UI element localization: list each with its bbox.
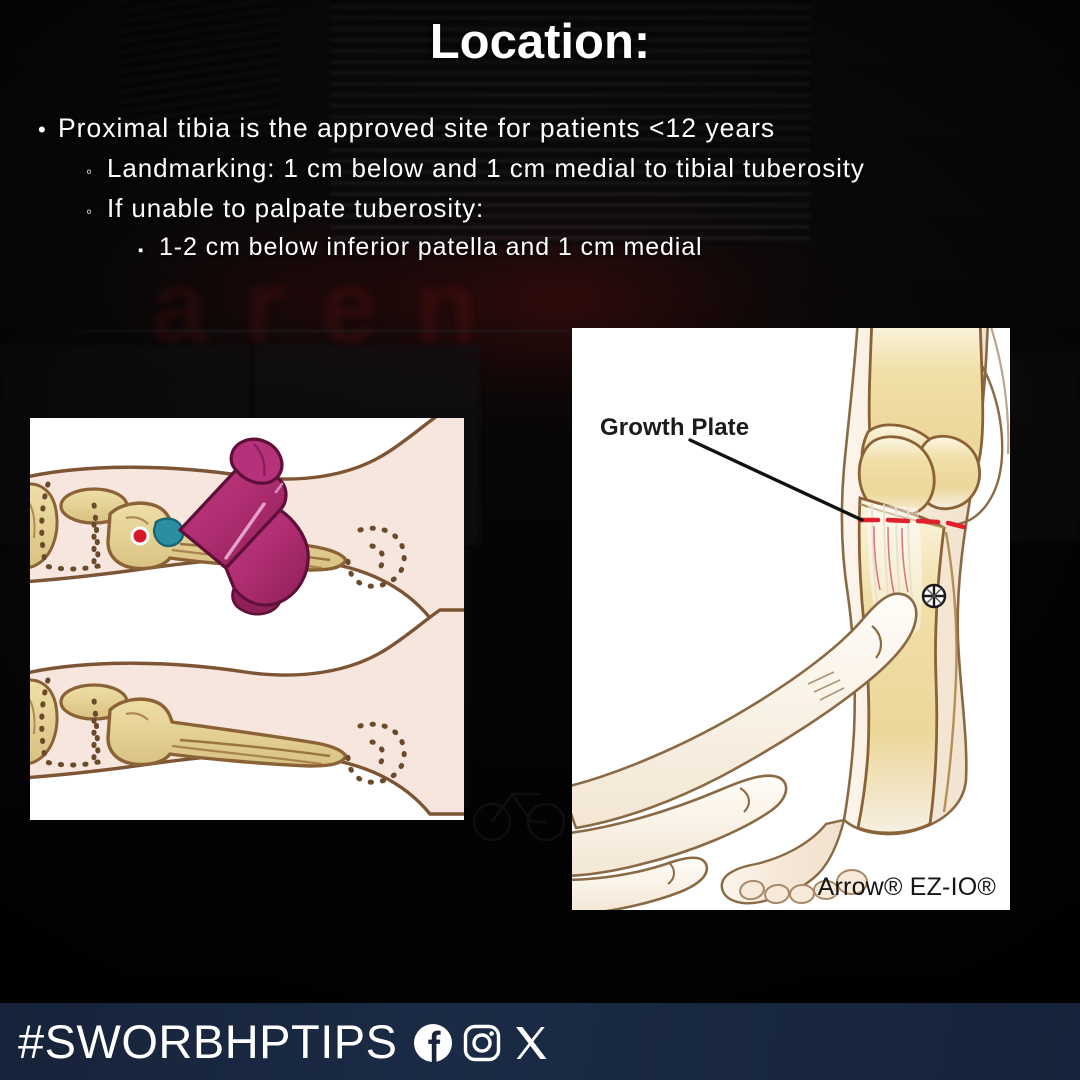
upper-limb-with-drill [30, 418, 464, 618]
x-twitter-icon[interactable] [511, 1023, 551, 1063]
instagram-icon[interactable] [462, 1023, 502, 1063]
io-drill-insertion-figure [30, 418, 464, 820]
bullet-item-4-text: 1-2 cm below inferior patella and 1 cm m… [159, 233, 703, 262]
footer-banner: #SWORBHPTIPS [0, 1003, 1080, 1080]
bullet-circle-hollow-icon: ◦ [86, 202, 107, 222]
growth-plate-landmark-figure: Growth Plate Arrow® EZ-IO® [572, 328, 1010, 910]
social-icons [413, 1023, 551, 1063]
bullet-square-small-icon: ▪ [138, 242, 159, 259]
facebook-icon[interactable] [413, 1023, 453, 1063]
lower-limb-plain [30, 610, 464, 814]
page-title: Location: [0, 14, 1080, 70]
bullet-item-3-text: If unable to palpate tuberosity: [107, 193, 484, 224]
growth-plate-label: Growth Plate [600, 414, 749, 442]
io-drill [180, 439, 308, 614]
bullet-circle-hollow-icon: ◦ [86, 162, 107, 182]
growth-plate-leader-line [690, 440, 862, 520]
bullet-list: • Proximal tibia is the approved site fo… [38, 113, 1048, 262]
io-drill-insertion-illustration [30, 418, 464, 820]
insertion-site-crosshair [923, 585, 945, 607]
bullet-item-3: ◦ If unable to palpate tuberosity: [86, 193, 1048, 224]
bullet-item-4: ▪ 1-2 cm below inferior patella and 1 cm… [138, 233, 1048, 262]
bullet-item-2: ◦ Landmarking: 1 cm below and 1 cm media… [86, 153, 1048, 184]
bullet-item-1: • Proximal tibia is the approved site fo… [38, 113, 1048, 144]
hashtag-text: #SWORBHPTIPS [18, 1018, 397, 1065]
insertion-site-marker [134, 530, 147, 543]
figure-caption-arrow-ezio: Arrow® EZ-IO® [818, 873, 996, 902]
background-bicycle-icon [470, 770, 570, 845]
bullet-item-2-text: Landmarking: 1 cm below and 1 cm medial … [107, 153, 865, 184]
slide-root: aren Location: • Proximal tibia is the a… [0, 0, 1080, 1080]
bullet-item-1-text: Proximal tibia is the approved site for … [58, 113, 775, 144]
bullet-disc-icon: • [38, 117, 58, 143]
